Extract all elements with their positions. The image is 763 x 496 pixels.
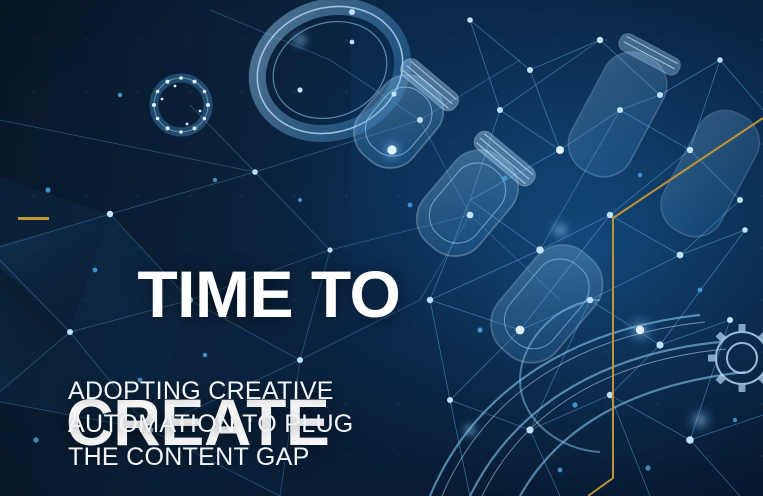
headline-line-1: TIME TO [137, 257, 400, 331]
subheadline-line-1: ADOPTING CREATIVE [68, 375, 354, 408]
gold-dash-accent [18, 217, 49, 220]
subheadline-line-3: THE CONTENT GAP [68, 441, 354, 474]
page-subtitle: ADOPTING CREATIVE AUTOMATION TO PLUG THE… [68, 375, 354, 473]
subheadline-line-2: AUTOMATION TO PLUG [68, 408, 354, 441]
hero-banner: TIME TO CREATE ADOPTING CREATIVE AUTOMAT… [0, 0, 763, 496]
